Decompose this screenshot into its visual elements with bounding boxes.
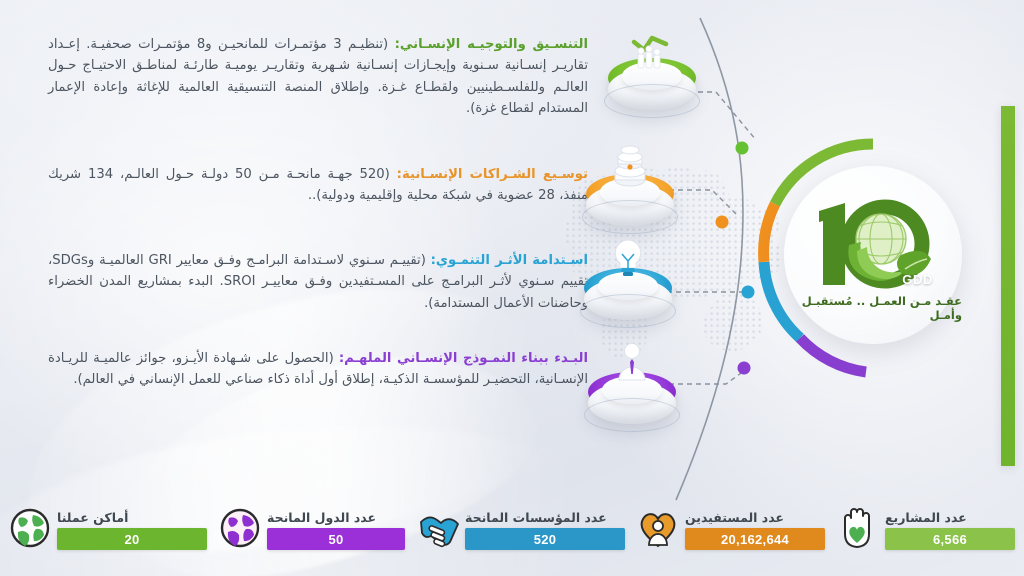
node-model: [580, 336, 684, 440]
stat-value: 20,162,644: [685, 528, 825, 550]
gdd-logo: GDD عقـد مـن العمـل .. مُستقبـل وأمـل: [768, 150, 978, 360]
globe-green-icon: [9, 506, 51, 550]
block-heading: توسـيع الشـراكات الإنسـانية:: [397, 167, 588, 182]
stat-label: عدد المستفيدين: [685, 510, 784, 525]
stat-label: عدد المشاريع: [885, 510, 967, 525]
stat-donor-states: عدد الدول المانحة 50: [219, 486, 405, 550]
handshake-icon: [417, 506, 459, 550]
podium-halo: [580, 294, 676, 328]
text-block-impact: اسـتدامة الأثـر التنمـوي: (تقييـم سـنوي …: [48, 250, 588, 314]
stats-bar: أماكن عملنا 20 عدد الدول المانحة 50: [0, 486, 1024, 550]
layers-stack-icon: [604, 140, 656, 190]
stat-value: 520: [465, 528, 625, 550]
text-block-coordination: التنسـيق والتوجيـه الإنسـاني: (تنظيـم 3 …: [48, 34, 588, 120]
lightbulb-icon: [602, 234, 654, 284]
logo-tagline: عقـد مـن العمـل .. مُستقبـل وأمـل: [784, 294, 962, 322]
globe-purple-icon: [219, 506, 261, 550]
person-tie-icon: [606, 338, 658, 388]
stat-projects: عدد المشاريع 6,566: [837, 486, 1015, 550]
block-heading: التنسـيق والتوجيـه الإنسـاني:: [395, 37, 588, 52]
right-accent-bar: [1001, 106, 1015, 466]
stat-beneficiaries: عدد المستفيدين 20,162,644: [637, 486, 825, 550]
logo-disc: GDD عقـد مـن العمـل .. مُستقبـل وأمـل: [784, 166, 962, 344]
text-block-model: البـدء ببناء النمـوذج الإنسـاني الملهـم:…: [48, 348, 588, 391]
stat-label: عدد الدول المانحة: [267, 510, 376, 525]
stat-value: 50: [267, 528, 405, 550]
block-heading: اسـتدامة الأثـر التنمـوي:: [431, 253, 588, 268]
hand-heart-icon: [837, 506, 879, 550]
node-partnerships: [578, 138, 682, 242]
podium-halo: [582, 200, 678, 234]
chart-people-icon: [626, 24, 678, 74]
stat-value: 6,566: [885, 528, 1015, 550]
stat-label: عدد المؤسسات المانحة: [465, 510, 607, 525]
node-coordination: [600, 22, 704, 126]
block-heading: البـدء ببناء النمـوذج الإنسـاني الملهـم:: [339, 351, 588, 366]
stat-label: أماكن عملنا: [57, 510, 128, 525]
heart-person-icon: [637, 506, 679, 550]
text-block-partnerships: توسـيع الشـراكات الإنسـانية: (520 جهـة م…: [48, 164, 588, 207]
stat-donor-orgs: عدد المؤسسات المانحة 520: [417, 486, 625, 550]
stat-locations: أماكن عملنا 20: [9, 486, 207, 550]
infographic-canvas: التنسـيق والتوجيـه الإنسـاني: (تنظيـم 3 …: [0, 0, 1024, 576]
podium-halo: [604, 84, 700, 118]
node-impact: [576, 232, 680, 336]
logo-abbr: GDD: [902, 272, 933, 287]
podium-halo: [584, 398, 680, 432]
logo-mark: GDD: [805, 189, 941, 293]
stat-value: 20: [57, 528, 207, 550]
